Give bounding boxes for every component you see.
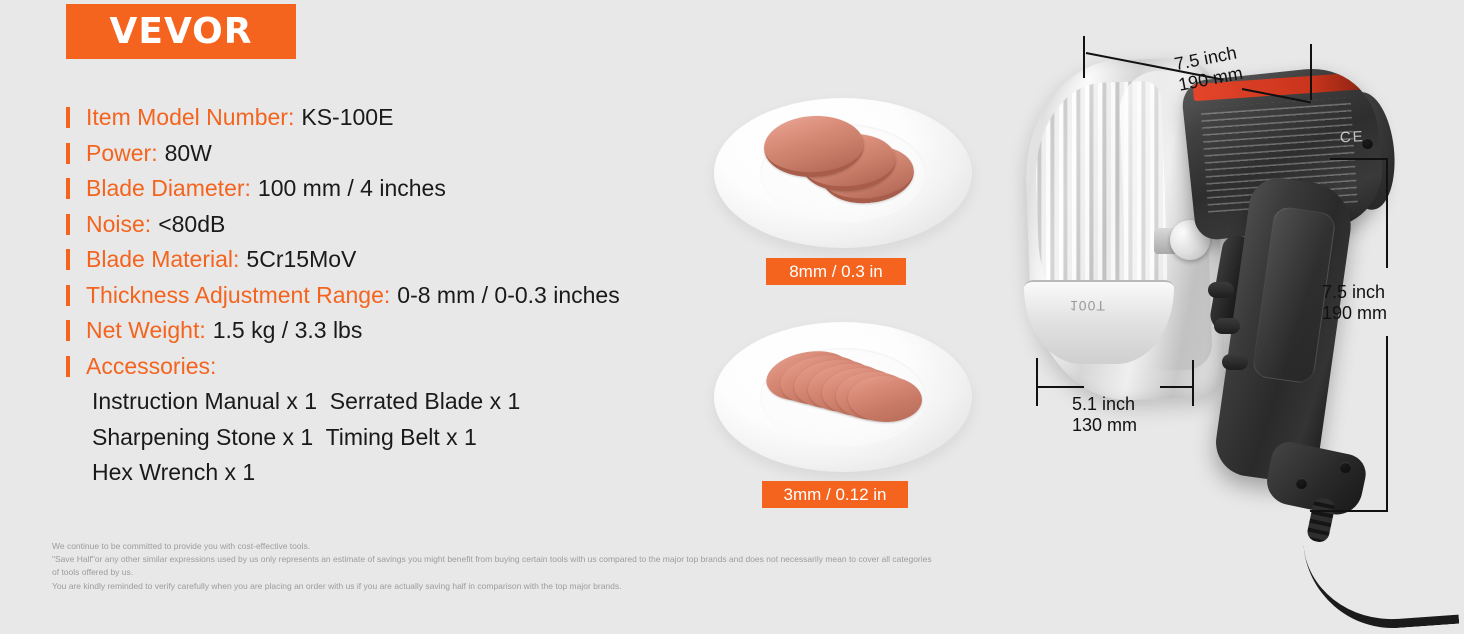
spec-value: 1.5 kg / 3.3 lbs bbox=[213, 317, 363, 344]
spec-value: <80dB bbox=[158, 211, 225, 238]
thickness-badge-label: 8mm / 0.3 in bbox=[789, 262, 883, 282]
infographic-canvas: VEVOR Item Model Number: KS-100E Power: … bbox=[0, 0, 1464, 600]
dimension-right-inch: 7.5 inch bbox=[1322, 282, 1387, 303]
brand-logo-text: VEVOR bbox=[109, 14, 252, 50]
footer-disclaimer: We continue to be committed to provide y… bbox=[52, 540, 1412, 593]
thin-slice-photo bbox=[714, 322, 972, 472]
spec-label: Blade Diameter: bbox=[86, 175, 251, 202]
dimension-bottom: 5.1 inch 130 mm bbox=[1072, 394, 1137, 435]
spec-label: Item Model Number: bbox=[86, 104, 294, 131]
bullet-icon bbox=[66, 214, 70, 235]
accessory-line: Hex Wrench x 1 bbox=[92, 459, 746, 495]
dim-tick-right-top bbox=[1330, 158, 1388, 160]
spec-value: 80W bbox=[165, 140, 212, 167]
vent-hole-icon bbox=[1340, 462, 1351, 473]
bullet-icon bbox=[66, 178, 70, 199]
bullet-icon bbox=[66, 285, 70, 306]
thickness-badge-label: 3mm / 0.12 in bbox=[784, 485, 887, 505]
dimension-bottom-inch: 5.1 inch bbox=[1072, 394, 1137, 415]
spec-label: Noise: bbox=[86, 211, 151, 238]
spec-row: Blade Diameter: 100 mm / 4 inches bbox=[66, 175, 746, 211]
dim-line-bottom-right bbox=[1160, 386, 1194, 388]
vent-hole-icon bbox=[1362, 138, 1373, 149]
spec-row: Net Weight: 1.5 kg / 3.3 lbs bbox=[66, 317, 746, 353]
brand-logo: VEVOR bbox=[66, 4, 296, 59]
bullet-icon bbox=[66, 320, 70, 341]
dim-tick-top-left bbox=[1083, 36, 1085, 78]
dim-tick-top-right bbox=[1310, 44, 1312, 100]
grip-notch bbox=[1222, 354, 1248, 370]
dimension-right-mm: 190 mm bbox=[1322, 303, 1387, 324]
grip-notch bbox=[1214, 318, 1240, 334]
specification-list: Item Model Number: KS-100E Power: 80W Bl… bbox=[66, 104, 746, 495]
bullet-icon bbox=[66, 107, 70, 128]
vent-hole-icon bbox=[1296, 478, 1307, 489]
dimension-bottom-mm: 130 mm bbox=[1072, 415, 1137, 436]
spec-row: Blade Material: 5Cr15MoV bbox=[66, 246, 746, 282]
product-image: 100T CE bbox=[1010, 30, 1464, 600]
bullet-icon bbox=[66, 356, 70, 377]
spec-row: Item Model Number: KS-100E bbox=[66, 104, 746, 140]
spec-label: Accessories: bbox=[86, 353, 216, 380]
dim-line-bottom-left bbox=[1036, 386, 1084, 388]
thickness-badge-3mm: 3mm / 0.12 in bbox=[762, 481, 908, 508]
dim-tick-bottom-right bbox=[1192, 360, 1194, 406]
spec-row: Thickness Adjustment Range: 0-8 mm / 0-0… bbox=[66, 282, 746, 318]
spec-row: Noise: <80dB bbox=[66, 211, 746, 247]
dim-line-right-upper bbox=[1386, 158, 1388, 268]
spec-label: Blade Material: bbox=[86, 246, 239, 273]
spec-value: 0-8 mm / 0-0.3 inches bbox=[397, 282, 619, 309]
thick-slice-photo bbox=[714, 98, 972, 248]
spec-label: Power: bbox=[86, 140, 158, 167]
accessory-line: Instruction Manual x 1 Serrated Blade x … bbox=[92, 388, 746, 424]
spec-label: Net Weight: bbox=[86, 317, 206, 344]
thickness-badge-8mm: 8mm / 0.3 in bbox=[766, 258, 906, 285]
footer-line: You are kindly reminded to verify carefu… bbox=[52, 580, 1412, 593]
spec-value: KS-100E bbox=[301, 104, 393, 131]
bullet-icon bbox=[66, 249, 70, 270]
grip-notch bbox=[1208, 282, 1234, 298]
spec-row: Power: 80W bbox=[66, 140, 746, 176]
spec-value: 100 mm / 4 inches bbox=[258, 175, 446, 202]
spec-row-accessories: Accessories: bbox=[66, 353, 746, 389]
footer-line: We continue to be committed to provide y… bbox=[52, 540, 1412, 553]
spec-label: Thickness Adjustment Range: bbox=[86, 282, 390, 309]
dim-tick-bottom-left bbox=[1036, 358, 1038, 406]
footer-line: of tools offered by us. bbox=[52, 566, 1412, 579]
dimension-right: 7.5 inch 190 mm bbox=[1322, 282, 1387, 323]
dim-line-right-lower bbox=[1386, 336, 1388, 512]
footer-line: "Save Half"or any other similar expressi… bbox=[52, 553, 1412, 566]
blade-marking: 100T bbox=[1070, 298, 1106, 314]
spec-value: 5Cr15MoV bbox=[246, 246, 356, 273]
bullet-icon bbox=[66, 143, 70, 164]
dim-tick-right-bottom bbox=[1310, 510, 1388, 512]
accessory-line: Sharpening Stone x 1 Timing Belt x 1 bbox=[92, 424, 746, 460]
